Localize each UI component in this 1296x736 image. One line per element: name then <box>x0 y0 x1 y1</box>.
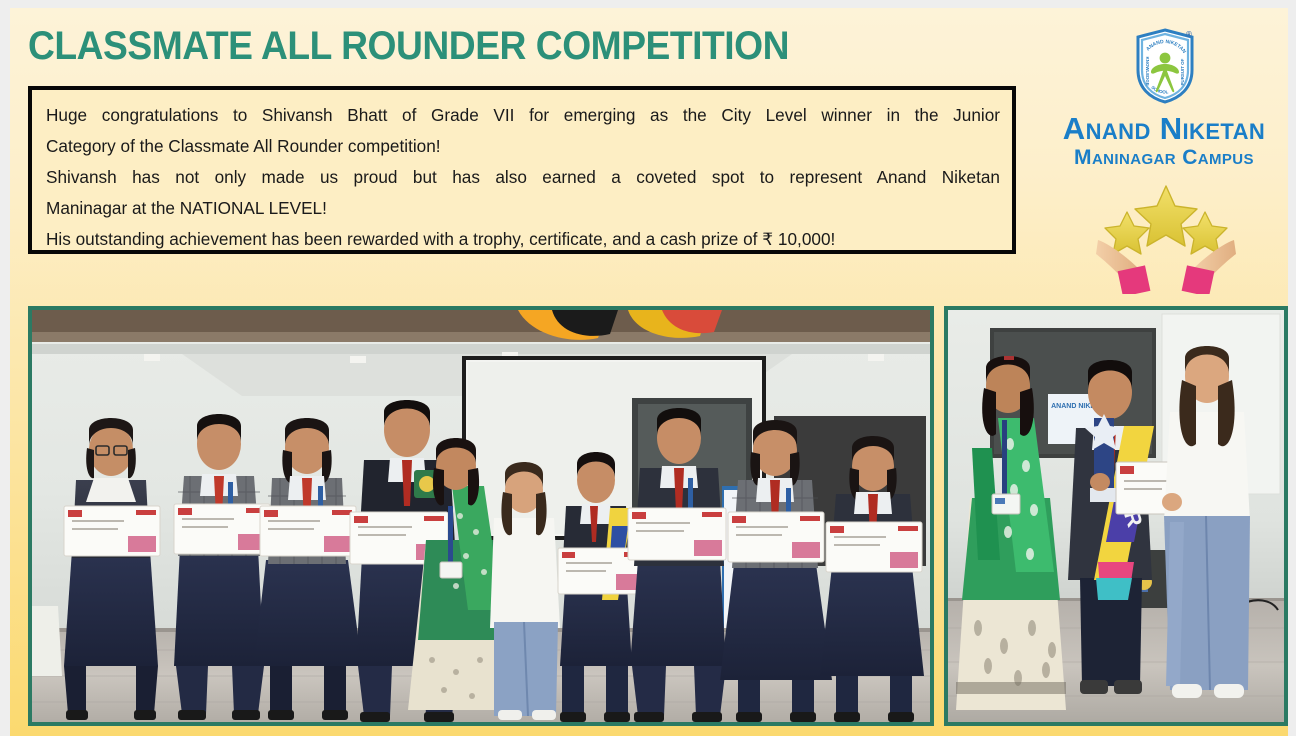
group-award-ceremony-photo: ANAND NIKETAN <box>28 306 934 726</box>
announcement-line-2: Category of the Classmate All Rounder co… <box>46 131 1000 162</box>
campus-name: Maninagar Campus <box>1040 146 1288 170</box>
poster-root: CLASSMATE ALL ROUNDER COMPETITION Huge c… <box>0 0 1296 736</box>
registered-trademark-icon: ® <box>1186 30 1192 39</box>
announcement-line-3: Shivansh has not only made us proud but … <box>46 162 1000 193</box>
svg-text:PURSUIT OF: PURSUIT OF <box>1180 58 1185 85</box>
announcement-textbox: Huge congratulations to Shivansh Bhatt o… <box>28 86 1016 254</box>
hands-holding-three-stars-icon <box>1096 178 1236 294</box>
winner-presentation-photo: ANAND NIKETAN <box>944 306 1288 726</box>
school-name: Anand Niketan <box>1040 112 1288 146</box>
page-title: CLASSMATE ALL ROUNDER COMPETITION <box>28 26 789 66</box>
svg-text:KNOWLEDGE: KNOWLEDGE <box>1145 57 1150 86</box>
announcement-line-4: Maninagar at the NATIONAL LEVEL! <box>46 193 1000 224</box>
announcement-line-1: Huge congratulations to Shivansh Bhatt o… <box>46 100 1000 131</box>
anand-niketan-shield-crest-icon: ANAND NIKETAN KNOWLEDGE PURSUIT OF SCHOO… <box>1134 28 1196 104</box>
poster-slide: CLASSMATE ALL ROUNDER COMPETITION Huge c… <box>10 8 1288 736</box>
branding-block: ANAND NIKETAN KNOWLEDGE PURSUIT OF SCHOO… <box>1040 20 1288 290</box>
announcement-line-5: His outstanding achievement has been rew… <box>46 224 1000 255</box>
